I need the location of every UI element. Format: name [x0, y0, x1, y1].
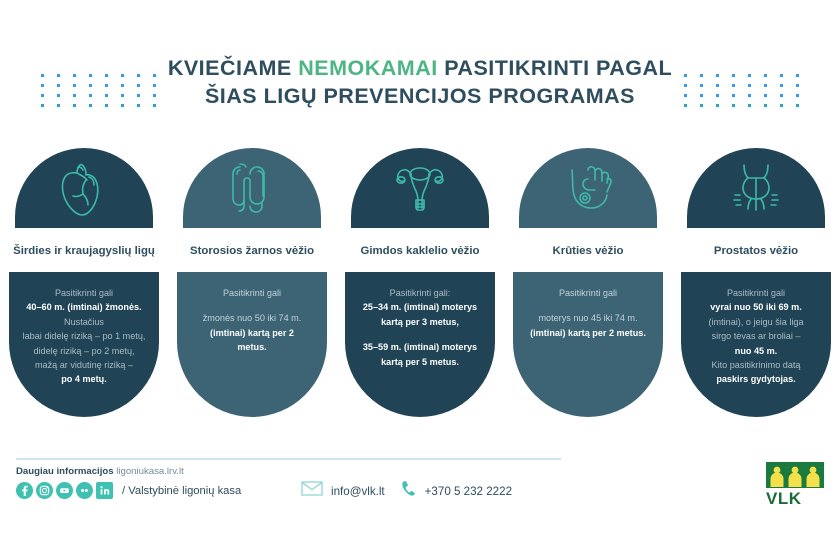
- card-title: Širdies ir kraujagyslių ligų: [7, 244, 162, 259]
- card-body-line: po 4 metų.: [15, 372, 153, 386]
- intestine-icon: [224, 159, 280, 217]
- program-card: Prostatos vėžioPasitikrinti galivyrai nu…: [672, 148, 840, 428]
- card-icon-dome: [183, 148, 321, 228]
- organization-name: / Valstybinė ligonių kasa: [122, 485, 241, 497]
- card-body-line: metus.: [183, 340, 321, 354]
- card-body-line: Nustačius: [15, 315, 153, 329]
- card-body-line: Pasitikrinti gali: [15, 286, 153, 300]
- program-card-list: Širdies ir kraujagyslių ligųPasitikrinti…: [0, 148, 840, 428]
- website-link[interactable]: ligoniukasa.lrv.lt: [116, 466, 184, 477]
- vlk-logo: VLK: [766, 462, 824, 508]
- card-body-line: (imtinai) kartą per 2 metus.: [519, 326, 657, 340]
- card-body-line: moterys nuo 45 iki 74 m.: [519, 311, 657, 325]
- heart-icon: [56, 159, 112, 217]
- breast-exam-icon: [558, 160, 618, 216]
- phone-contact[interactable]: +370 5 232 2222: [401, 480, 512, 502]
- card-icon-dome: [351, 148, 489, 228]
- youtube-icon[interactable]: [56, 482, 73, 499]
- card-body: Pasitikrinti galižmonės nuo 50 iki 74 m.…: [177, 272, 327, 417]
- card-body-line: žmonės nuo 50 iki 74 m.: [183, 311, 321, 325]
- card-icon-dome: [687, 148, 825, 228]
- card-body-line: labai didelę riziką – po 1 metų,: [15, 329, 153, 343]
- more-info-label: Daugiau informacijos: [16, 466, 114, 477]
- program-card: Krūties vėžioPasitikrinti galimoterys nu…: [504, 148, 672, 428]
- email-contact[interactable]: info@vlk.lt: [301, 481, 385, 501]
- program-card: Storosios žarnos vėžioPasitikrinti galiž…: [168, 148, 336, 428]
- card-body-line: Pasitikrinti gali: [687, 286, 825, 300]
- card-body-line: (imtinai), o jeigu šia liga: [687, 315, 825, 329]
- title-line-1: KVIEČIAME NEMOKAMAI PASITIKRINTI PAGAL: [0, 54, 840, 82]
- phone-icon: [401, 480, 417, 502]
- card-body: Pasitikrinti gali:25–34 m. (imtinai) mot…: [345, 272, 495, 417]
- title-highlight: NEMOKAMAI: [298, 56, 437, 80]
- card-body-line: 25–34 m. (imtinai) moterys: [351, 300, 489, 314]
- envelope-icon: [301, 481, 323, 501]
- card-body-line: paskirs gydytojas.: [687, 372, 825, 386]
- vlk-logo-mark: [766, 462, 824, 488]
- more-info-line: Daugiau informacijos ligoniukasa.lrv.lt: [16, 466, 824, 477]
- contact-row: info@vlk.lt +370 5 232 2222: [301, 480, 512, 502]
- facebook-icon[interactable]: [16, 482, 33, 499]
- phone-text: +370 5 232 2222: [425, 485, 512, 498]
- email-text: info@vlk.lt: [331, 485, 385, 498]
- card-body-line: Pasitikrinti gali: [183, 286, 321, 300]
- card-title: Gimdos kaklelio vėžio: [343, 244, 498, 259]
- card-title: Storosios žarnos vėžio: [175, 244, 330, 259]
- uterus-icon: [390, 160, 450, 216]
- card-body-line: Kito pasitikrinimo datą: [687, 358, 825, 372]
- title-part-pre: KVIEČIAME: [168, 56, 298, 80]
- social-icon-list: [16, 482, 113, 499]
- title-part-post: PASITIKRINTI PAGAL: [438, 56, 672, 80]
- linkedin-icon[interactable]: [96, 482, 113, 499]
- title-line-2: ŠIAS LIGŲ PREVENCIJOS PROGRAMAS: [0, 82, 840, 110]
- card-body: Pasitikrinti gali40–60 m. (imtinai) žmon…: [9, 272, 159, 417]
- card-body-line: mažą ar vidutinę riziką –: [15, 358, 153, 372]
- card-icon-dome: [519, 148, 657, 228]
- footer-divider: [16, 458, 561, 460]
- program-card: Širdies ir kraujagyslių ligųPasitikrinti…: [0, 148, 168, 428]
- card-body-line: nuo 45 m.: [687, 344, 825, 358]
- vlk-logo-text: VLK: [766, 489, 824, 508]
- card-body-line: kartą per 3 metus,: [351, 315, 489, 329]
- card-title: Krūties vėžio: [511, 244, 666, 259]
- card-body: Pasitikrinti galimoterys nuo 45 iki 74 m…: [513, 272, 663, 417]
- card-title: Prostatos vėžio: [679, 244, 834, 259]
- card-body-line: sirgo tėvas ar broliai –: [687, 329, 825, 343]
- card-body-line: 35–59 m. (imtinai) moterys: [351, 340, 489, 354]
- program-card: Gimdos kaklelio vėžioPasitikrinti gali:2…: [336, 148, 504, 428]
- flickr-icon[interactable]: [76, 482, 93, 499]
- prostate-icon: [727, 159, 785, 217]
- card-body-line: kartą per 5 metus.: [351, 355, 489, 369]
- footer: Daugiau informacijos ligoniukasa.lrv.lt …: [16, 466, 824, 526]
- page-title: KVIEČIAME NEMOKAMAI PASITIKRINTI PAGAL Š…: [0, 54, 840, 110]
- instagram-icon[interactable]: [36, 482, 53, 499]
- card-icon-dome: [15, 148, 153, 228]
- card-body-line: didelę riziką – po 2 metų,: [15, 344, 153, 358]
- card-body-line: (imtinai) kartą per 2: [183, 326, 321, 340]
- card-body-line: Pasitikrinti gali: [519, 286, 657, 300]
- card-body: Pasitikrinti galivyrai nuo 50 iki 69 m.(…: [681, 272, 831, 417]
- card-body-line: vyrai nuo 50 iki 69 m.: [687, 300, 825, 314]
- card-body-line: 40–60 m. (imtinai) žmonės.: [15, 300, 153, 314]
- card-body-line: Pasitikrinti gali:: [351, 286, 489, 300]
